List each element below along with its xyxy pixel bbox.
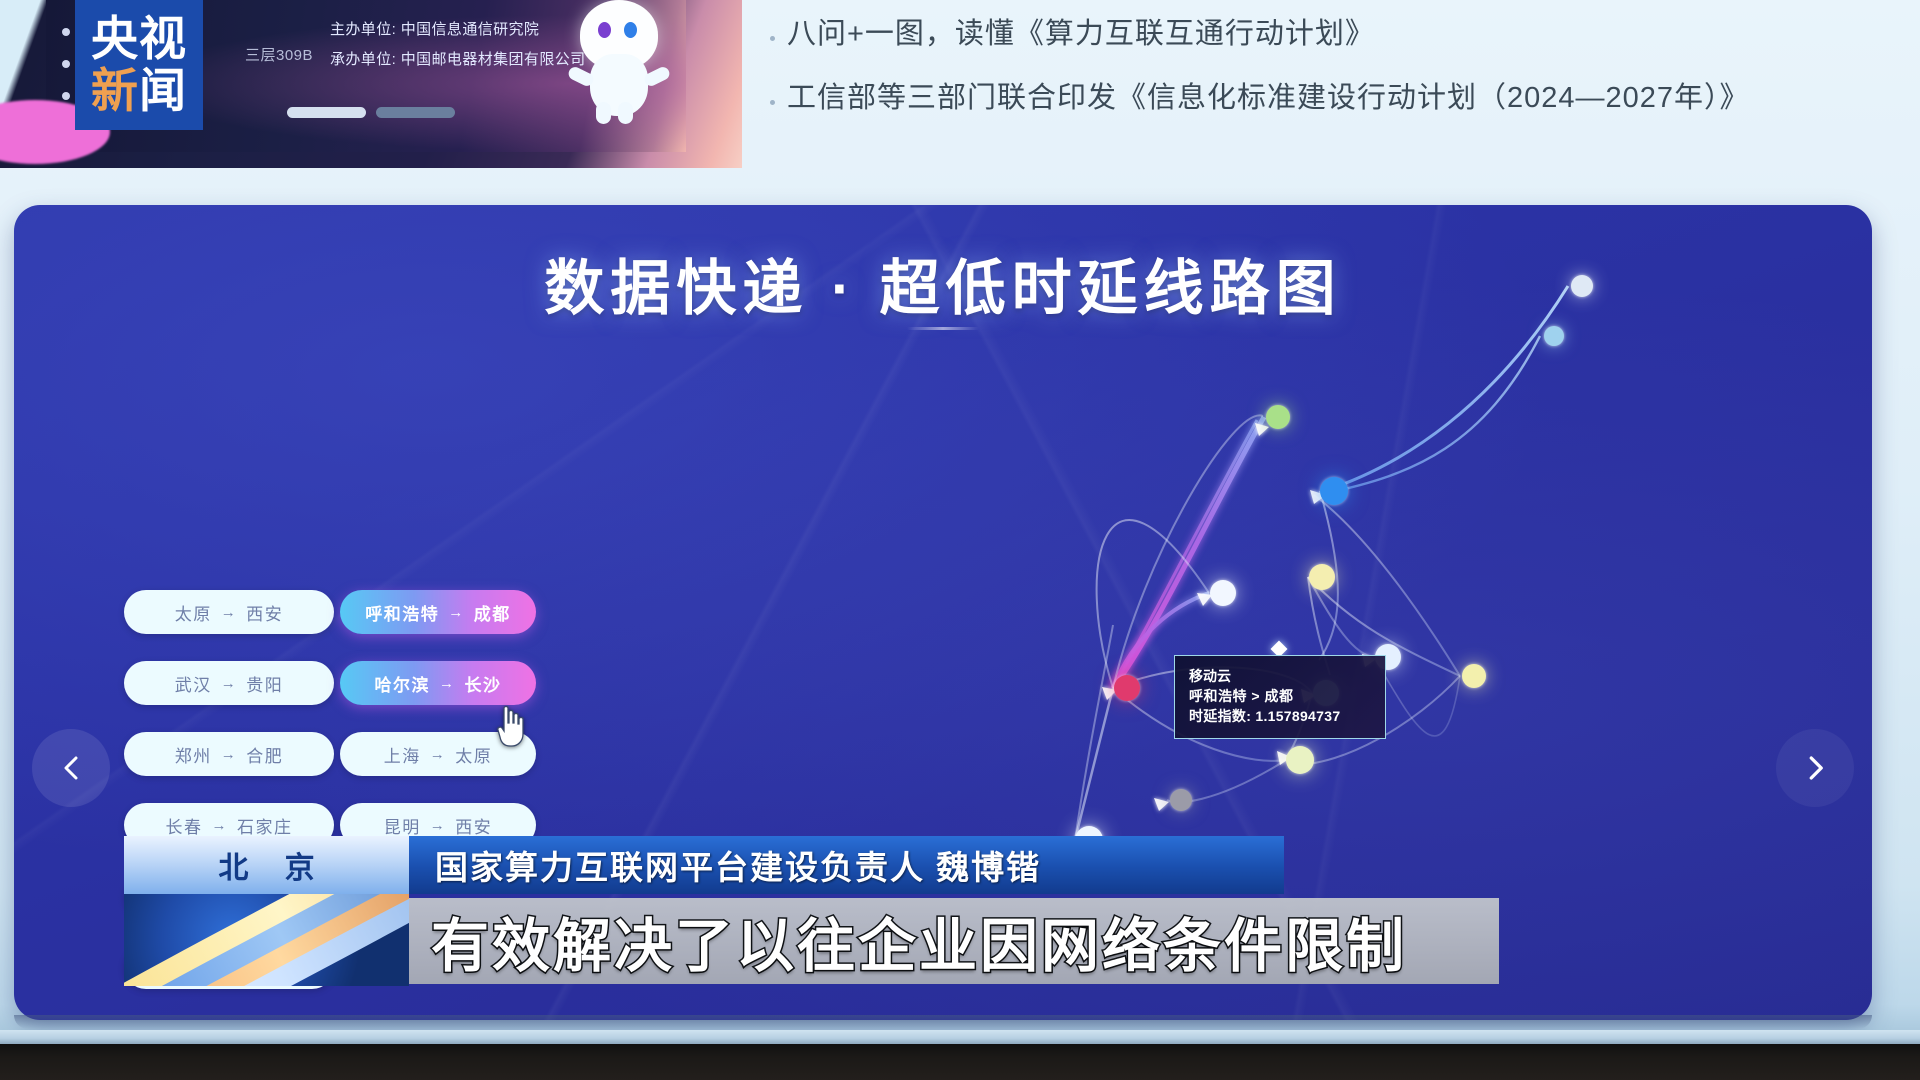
route-origin: 呼和浩特 xyxy=(365,600,439,625)
route-destination: 西安 xyxy=(246,600,283,625)
route-destination: 成都 xyxy=(474,600,511,625)
bullet-dot-icon xyxy=(770,100,775,105)
robot-mascot-icon xyxy=(560,0,680,142)
headline-item[interactable]: 八问+一图，读懂《算力互联互通行动计划》 xyxy=(770,14,1890,54)
route-pill[interactable]: 上海→太原 xyxy=(340,732,536,776)
headline-list: 八问+一图，读懂《算力互联互通行动计划》 工信部等三部门联合印发《信息化标准建设… xyxy=(770,14,1890,142)
progress-bar-segment-filled xyxy=(287,107,366,118)
screen-capture: 地 三层309B 主办单位: 中国信息通信研究院 承办单位: 中国邮电器材集团有… xyxy=(0,0,1920,1080)
cctv-news-logo: 央视 新闻 xyxy=(75,0,203,130)
venue-address: 三层309B xyxy=(245,44,313,65)
node-grey[interactable] xyxy=(1170,789,1192,811)
chevron-right-icon xyxy=(1800,753,1830,783)
tooltip-latency-index: 时延指数: 1.157894737 xyxy=(1189,706,1373,726)
node-crimson-hub[interactable] xyxy=(1114,675,1140,701)
route-destination: 贵阳 xyxy=(246,671,283,696)
speaker-name-bar: 国家算力互联网平台建设负责人 魏博锴 xyxy=(409,836,1284,894)
logo-line-2: 新闻 xyxy=(91,65,187,117)
node-yellow-upper[interactable] xyxy=(1309,564,1335,590)
route-origin: 昆明 xyxy=(384,813,421,838)
arrow-right-icon: → xyxy=(439,675,456,692)
route-pill[interactable]: 哈尔滨→长沙 xyxy=(340,661,536,705)
location-badge: 北 京 xyxy=(124,836,409,894)
speaker-title-text: 国家算力互联网平台建设负责人 魏博锴 xyxy=(435,841,1041,889)
node-top-right-pale[interactable] xyxy=(1571,275,1593,297)
route-origin: 武汉 xyxy=(175,671,212,696)
tooltip-route: 呼和浩特 > 成都 xyxy=(1189,686,1373,706)
arrow-right-icon: → xyxy=(221,604,238,621)
panel-drop-shadow xyxy=(14,1015,1872,1029)
arrow-right-icon: → xyxy=(430,817,447,834)
headline-text: 八问+一图，读懂《算力互联互通行动计划》 xyxy=(787,14,1375,54)
arrow-right-icon: → xyxy=(221,746,238,763)
organizer-line-1: 主办单位: 中国信息通信研究院 xyxy=(330,18,539,39)
carousel-next-button[interactable] xyxy=(1776,729,1854,807)
node-upper-right-cyan[interactable] xyxy=(1544,326,1564,346)
route-destination: 长沙 xyxy=(465,671,502,696)
location-text: 北 京 xyxy=(204,843,328,887)
route-origin: 长春 xyxy=(166,813,203,838)
route-origin: 郑州 xyxy=(175,742,212,767)
node-yellow-lower[interactable] xyxy=(1286,746,1314,774)
carousel-prev-button[interactable] xyxy=(32,729,110,807)
broadcast-lower-third: 北 京 国家算力互联网平台建设负责人 魏博锴 有效解决了以往企业因网络条件限制 xyxy=(124,836,1284,986)
route-destination: 太原 xyxy=(455,742,492,767)
headline-text: 工信部等三部门联合印发《信息化标准建设行动计划（2024—2027年）》 xyxy=(787,78,1750,118)
route-destination: 西安 xyxy=(455,813,492,838)
logo-line-1: 央视 xyxy=(91,13,187,65)
subtitle-text: 有效解决了以往企业因网络条件限制 xyxy=(431,899,1407,983)
node-blue-selected[interactable] xyxy=(1320,477,1348,505)
monitor-bezel-lip xyxy=(0,1030,1920,1044)
node-yellow-right[interactable] xyxy=(1462,664,1486,688)
bullet-dot-icon xyxy=(770,36,775,41)
arrow-right-icon: → xyxy=(221,675,238,692)
route-origin: 哈尔滨 xyxy=(375,671,431,696)
node-green[interactable] xyxy=(1266,405,1290,429)
route-tooltip: 移动云 呼和浩特 > 成都 时延指数: 1.157894737 xyxy=(1174,655,1386,739)
tooltip-provider: 移动云 xyxy=(1189,666,1373,686)
arrow-right-icon: → xyxy=(448,604,465,621)
globe-graphic xyxy=(124,894,409,986)
headline-item[interactable]: 工信部等三部门联合印发《信息化标准建设行动计划（2024—2027年）》 xyxy=(770,78,1890,118)
chevron-left-icon xyxy=(56,753,86,783)
route-pill[interactable]: 太原→西安 xyxy=(124,590,334,634)
node-white-mid[interactable] xyxy=(1210,580,1236,606)
route-pill[interactable]: 郑州→合肥 xyxy=(124,732,334,776)
route-destination: 合肥 xyxy=(246,742,283,767)
arrow-right-icon: → xyxy=(212,817,229,834)
route-column-right: 呼和浩特→成都哈尔滨→长沙上海→太原昆明→西安 xyxy=(340,590,536,874)
route-origin: 上海 xyxy=(384,742,421,767)
arrow-right-icon: → xyxy=(430,746,447,763)
route-pill[interactable]: 呼和浩特→成都 xyxy=(340,590,536,634)
route-origin: 太原 xyxy=(175,600,212,625)
route-pill[interactable]: 武汉→贵阳 xyxy=(124,661,334,705)
subtitle-bar: 有效解决了以往企业因网络条件限制 xyxy=(409,898,1499,984)
monitor-bezel xyxy=(0,1044,1920,1080)
route-destination: 石家庄 xyxy=(237,813,293,838)
organizer-line-2: 承办单位: 中国邮电器材集团有限公司 xyxy=(330,48,586,69)
progress-bar-segment-empty xyxy=(376,107,455,118)
